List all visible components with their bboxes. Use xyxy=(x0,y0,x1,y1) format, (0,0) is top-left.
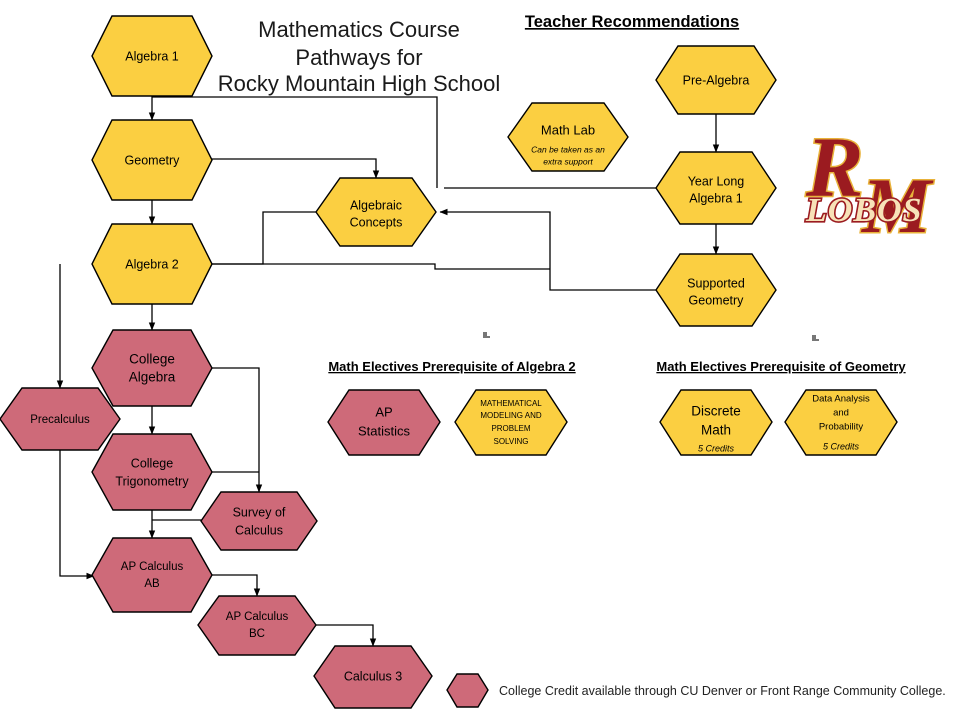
node-label-line3: PROBLEM xyxy=(491,424,530,433)
node-survey-of-calculus[interactable]: Survey of Calculus xyxy=(201,492,317,550)
node-ap-statistics[interactable]: AP Statistics xyxy=(328,390,440,455)
heading-electives-algebra2: Math Electives Prerequisite of Algebra 2 xyxy=(328,359,575,374)
node-label-line2: and xyxy=(833,408,849,419)
node-label-line2: Concepts xyxy=(350,215,403,229)
node-sublabel-line2: extra support xyxy=(543,156,593,166)
node-label-line1: College xyxy=(131,456,173,470)
node-calculus-3[interactable]: Calculus 3 xyxy=(314,646,432,708)
node-label-line1: MATHEMATICAL xyxy=(480,399,542,408)
node-label-line2: Algebra xyxy=(129,370,176,385)
node-algebra-1[interactable]: Algebra 1 xyxy=(92,16,212,96)
node-discrete-math[interactable]: Discrete Math 5 Credits xyxy=(660,390,772,455)
node-credits: 5 Credits xyxy=(823,441,860,451)
node-label-line4: SOLVING xyxy=(494,437,529,446)
legend-text: College Credit available through CU Denv… xyxy=(499,684,946,698)
node-pre-algebra[interactable]: Pre-Algebra xyxy=(656,46,776,114)
node-college-algebra[interactable]: College Algebra xyxy=(92,330,212,406)
node-label: Math Lab xyxy=(541,122,595,137)
node-label-line1: Year Long xyxy=(688,174,745,188)
node-label-line1: AP Calculus xyxy=(226,611,289,623)
node-label-line1: Discrete xyxy=(691,404,741,419)
node-label: Algebra 2 xyxy=(125,257,179,271)
page-title-line1: Mathematics Course xyxy=(258,17,460,42)
node-label: Precalculus xyxy=(30,414,90,426)
node-algebra-2[interactable]: Algebra 2 xyxy=(92,224,212,304)
node-algebraic-concepts[interactable]: Algebraic Concepts xyxy=(316,178,436,246)
node-year-long-algebra-1[interactable]: Year Long Algebra 1 xyxy=(656,152,776,224)
heading-teacher-recommendations: Teacher Recommendations xyxy=(525,13,739,31)
node-label-line2: Math xyxy=(701,423,731,438)
node-math-lab[interactable]: Math Lab Can be taken as an extra suppor… xyxy=(508,103,628,171)
node-precalculus[interactable]: Precalculus xyxy=(0,388,120,450)
node-ap-calculus-bc[interactable]: AP Calculus BC xyxy=(198,596,316,655)
node-geometry[interactable]: Geometry xyxy=(92,120,212,200)
node-label-line1: AP Calculus xyxy=(121,561,184,573)
node-label-line2: Statistics xyxy=(358,423,411,438)
node-data-analysis-probability[interactable]: Data Analysis and Probability 5 Credits xyxy=(785,390,897,455)
node-label-line3: Probability xyxy=(819,422,864,433)
node-label-line2: Algebra 1 xyxy=(689,191,743,205)
heading-electives-geometry: Math Electives Prerequisite of Geometry xyxy=(656,359,906,374)
node-label-line2: Calculus xyxy=(235,523,283,537)
node-mathematical-modeling[interactable]: MATHEMATICAL MODELING AND PROBLEM SOLVIN… xyxy=(455,390,567,455)
node-label: Pre-Algebra xyxy=(683,73,750,87)
node-label: Algebra 1 xyxy=(125,49,179,63)
node-label: Calculus 3 xyxy=(344,669,402,683)
node-label-line2: MODELING AND xyxy=(480,411,542,420)
node-ap-calculus-ab[interactable]: AP Calculus AB xyxy=(92,538,212,612)
node-label-line2: Geometry xyxy=(689,293,745,307)
node-credits: 5 Credits xyxy=(698,443,735,453)
logo-lobos-text: LOBOS xyxy=(805,192,922,229)
node-label-line1: Survey of xyxy=(233,505,286,519)
node-label-line2: Trigonometry xyxy=(115,474,189,488)
diagram-canvas: Algebra 1 Geometry Algebra 2 Algebraic C… xyxy=(0,0,960,720)
pathway-diagram: Algebra 1 Geometry Algebra 2 Algebraic C… xyxy=(0,0,960,720)
node-label-line2: BC xyxy=(249,628,265,640)
node-label-line1: AP xyxy=(375,404,392,419)
node-label-line1: College xyxy=(129,352,175,367)
node-label-line1: Supported xyxy=(687,276,745,290)
node-supported-geometry[interactable]: Supported Geometry xyxy=(656,254,776,326)
node-sublabel-line1: Can be taken as an xyxy=(531,144,605,154)
node-college-trigonometry[interactable]: College Trigonometry xyxy=(92,434,212,510)
node-label: Geometry xyxy=(125,153,181,167)
node-label-line1: Algebraic xyxy=(350,198,402,212)
node-label-line2: AB xyxy=(144,578,160,590)
node-label-line1: Data Analysis xyxy=(812,394,870,405)
page-title-line2: Pathways for xyxy=(295,45,422,70)
page-title-line3: Rocky Mountain High School xyxy=(218,71,500,96)
